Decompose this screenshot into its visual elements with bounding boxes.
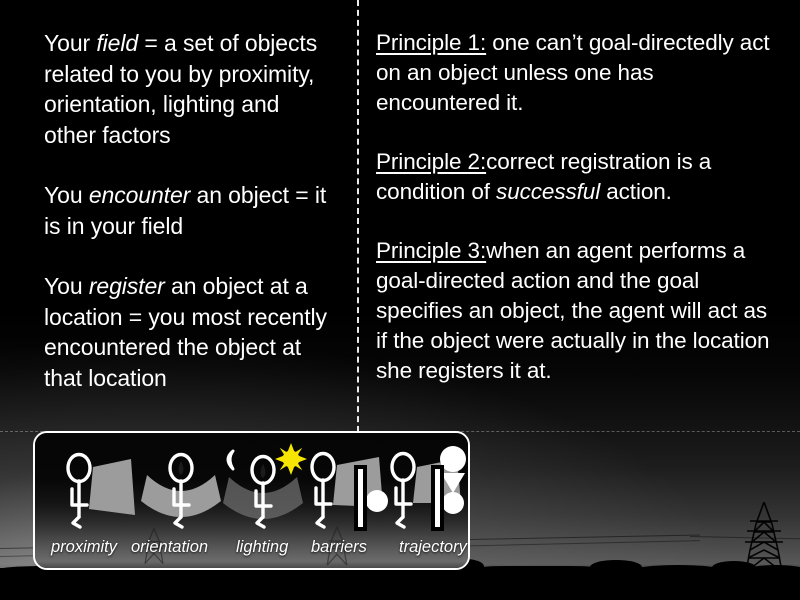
text-run: Your (44, 30, 96, 56)
label-trajectory: trajectory (399, 537, 467, 557)
figure-leg (397, 517, 404, 527)
factor-labels-row: proximity orientation lighting barriers … (35, 537, 468, 567)
figure-head (392, 454, 414, 481)
paragraph-encounter-definition: You encounter an object = it is in your … (44, 180, 336, 241)
label-proximity: proximity (51, 537, 117, 557)
figure-head (312, 454, 334, 481)
right-text-column: Principle 1: one can’t goal-directedly a… (376, 28, 776, 386)
paragraph-field-definition: Your field = a set of objects related to… (44, 28, 336, 150)
figure-leg (73, 517, 80, 527)
label-orientation: orientation (131, 537, 208, 557)
figure-face-marker (261, 464, 266, 478)
field-factors-panel: proximity orientation lighting barriers … (33, 431, 470, 570)
paragraph-principle-2: Principle 2:correct registration is a co… (376, 147, 776, 207)
principle-2-heading: Principle 2: (376, 149, 486, 174)
label-lighting: lighting (236, 537, 288, 557)
text-run: You (44, 273, 89, 299)
barrier-shape (356, 467, 365, 529)
icon-trajectory (381, 445, 468, 537)
figure-leg (175, 517, 182, 527)
principle-1-heading: Principle 1: (376, 30, 486, 55)
figure-face-marker (179, 461, 184, 475)
panel-background: proximity orientation lighting barriers … (35, 433, 468, 568)
barrier-shape (433, 467, 442, 529)
principle-2-body-after: action. (600, 179, 672, 204)
moon-icon (228, 451, 233, 469)
principle-3-heading: Principle 3: (376, 238, 486, 263)
emphasis-field: field (96, 30, 138, 56)
figure-leg (317, 517, 324, 527)
foreground-ground (0, 568, 800, 600)
left-text-column: Your field = a set of objects related to… (44, 28, 336, 393)
label-barriers: barriers (311, 537, 367, 557)
figure-head (68, 455, 90, 482)
paragraph-register-definition: You register an object at a location = y… (44, 271, 336, 393)
paragraph-principle-3: Principle 3:when an agent performs a goa… (376, 236, 776, 386)
emphasis-successful: successful (496, 179, 600, 204)
emphasis-encounter: encounter (89, 182, 190, 208)
vertical-dashed-divider (357, 0, 359, 432)
field-shape (89, 459, 135, 515)
paragraph-principle-1: Principle 1: one can’t goal-directedly a… (376, 28, 776, 118)
slide-canvas: Your field = a set of objects related to… (0, 0, 800, 600)
emphasis-register: register (89, 273, 165, 299)
text-run: You (44, 182, 89, 208)
object-ball-end (442, 492, 464, 514)
